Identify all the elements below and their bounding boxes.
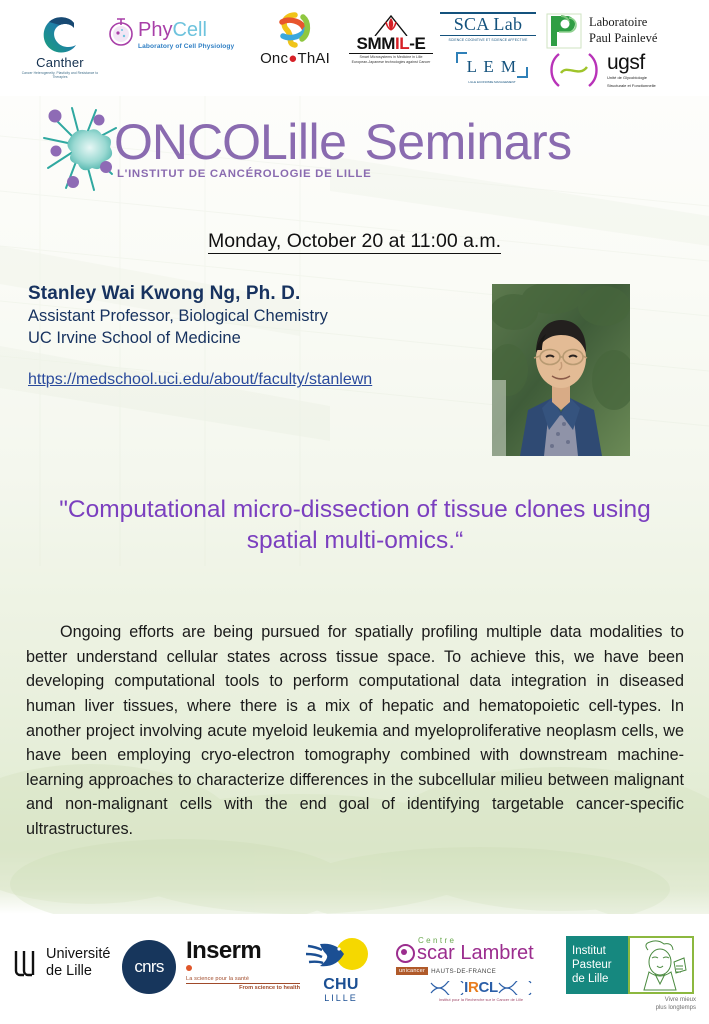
ugsf-subtitle-2: Structurale et Fonctionnelle (607, 83, 656, 89)
inserm-divider (186, 983, 300, 984)
inserm-name: Inserm (186, 940, 300, 963)
unicancer-region: HAUTS-DE-FRANCE (431, 968, 496, 975)
logo-phycell: PhyCell Laboratory of Cell Physiology (106, 16, 246, 50)
ugsf-symbol-icon (545, 52, 603, 88)
logo-smmile: SMMIL-E Smart Microsystems in Medicine i… (345, 14, 437, 65)
speaker-photo (492, 284, 630, 456)
phycell-flask-icon (106, 16, 140, 50)
speaker-institution: UC Irvine School of Medicine (28, 328, 478, 350)
universite-lille-name: Université de Lille (46, 946, 110, 980)
logo-universite-de-lille: Université de Lille (14, 946, 110, 980)
speaker-role: Assistant Professor, Biological Chemistr… (28, 306, 478, 328)
oncolille-cell-star-icon (36, 104, 118, 192)
ugsf-subtitle-1: Unité de Glycobiologie (607, 75, 656, 81)
canther-subtitle: Cancer Heterogeneity, Plasticity and Res… (18, 71, 102, 80)
sca-bottom-rule (440, 35, 536, 36)
universite-lille-mark-icon (14, 949, 40, 977)
phycell-tagline: Laboratory of Cell Physiology (138, 43, 234, 50)
phycell-name: PhyCell (138, 20, 234, 40)
logo-lem: L E M LILLE ECONOMIE MANAGEMENT (452, 52, 532, 85)
pasteur-name: Institut Pasteur de Lille (566, 936, 628, 994)
speaker-name: Stanley Wai Kwong Ng, Ph. D. (28, 282, 478, 306)
smmile-peak-icon (345, 14, 437, 36)
chu-lille-name: CHU (306, 977, 376, 993)
oscar-lambret-o-icon (396, 944, 415, 963)
logo-cnrs: cnrs (122, 940, 176, 994)
ircl-name: IRCL (464, 979, 498, 996)
ircl-dna-icon-right (498, 981, 532, 995)
canther-c-icon (36, 14, 84, 54)
sca-lab-subtitle: SCIENCE COGNITIVE ET SCIENCE AFFECTIVE (440, 38, 536, 42)
seminar-title: "Computational micro-dissection of tissu… (30, 494, 680, 557)
inserm-subtitle-fr: La science pour la santé (186, 976, 300, 982)
sca-lab-name: SCA Lab (440, 14, 536, 35)
chu-lille-bird-icon (306, 936, 376, 976)
lem-corner-top-left (456, 52, 467, 63)
oscar-lambret-name: scar Lambret (396, 943, 566, 963)
cnrs-disc: cnrs (122, 940, 176, 994)
lem-corner-bottom-right (517, 67, 528, 78)
seminar-date: Monday, October 20 at 11:00 a.m. (0, 230, 709, 253)
inserm-dot-icon (186, 965, 192, 971)
speaker-profile-link[interactable]: https://medschool.uci.edu/about/faculty/… (28, 371, 372, 389)
logo-chu-lille: CHU LILLE (306, 936, 376, 1003)
canther-name: Canther (18, 55, 102, 70)
logo-canther: Canther Cancer Heterogeneity, Plasticity… (18, 14, 102, 80)
logo-paul-painleve: Laboratoire Paul Painlevé (545, 12, 705, 50)
oncolille-wordmark: ONCOLilleSeminars (114, 117, 572, 167)
ircl-subtitle: Institut pour la Recherche sur le Cancer… (396, 997, 566, 1002)
smmile-name: SMMIL-E (345, 35, 437, 52)
logo-ugsf: ugsf Unité de Glycobiologie Structurale … (545, 52, 707, 88)
oncothai-knot-icon (273, 12, 317, 48)
smmile-divider (349, 53, 433, 54)
smmile-subtitle-2: European-Japanese technologies against C… (345, 60, 437, 65)
cnrs-name: cnrs (134, 957, 163, 977)
painleve-monogram-icon (545, 12, 583, 50)
logo-inserm: Inserm La science pour la santé From sci… (186, 940, 300, 991)
ircl-dna-icon (430, 981, 464, 995)
pasteur-subtitle: Vivre mieux plus longtemps (566, 997, 700, 1013)
unicancer-badge: unicancer (396, 967, 428, 975)
oncolille-seminars-header: ONCOLilleSeminars L'INSTITUT DE CANCÉROL… (36, 104, 676, 200)
logo-oscar-lambret: Centre scar Lambret unicancer HAUTS-DE-F… (396, 936, 566, 1002)
seminar-date-text: Monday, October 20 at 11:00 a.m. (208, 230, 501, 254)
logo-oncothai: Onc●ThAI (247, 12, 343, 67)
pasteur-portrait-icon (628, 936, 694, 994)
partner-logos-footer: Université de Lille cnrs Inserm La scien… (0, 914, 709, 1024)
chu-lille-subtitle: LILLE (306, 993, 376, 1003)
logo-institut-pasteur-lille: Institut Pasteur de Lille (566, 936, 700, 1013)
inserm-subtitle-en: From science to health (186, 985, 300, 991)
logo-sca-lab: SCA Lab SCIENCE COGNITIVE ET SCIENCE AFF… (440, 12, 536, 42)
speaker-info: Stanley Wai Kwong Ng, Ph. D. Assistant P… (28, 282, 478, 389)
seminar-abstract: Ongoing efforts are being pursued for sp… (26, 620, 684, 842)
oncothai-name: Onc●ThAI (247, 50, 343, 67)
ugsf-name: ugsf (607, 52, 656, 73)
partner-logos-header: Canther Cancer Heterogeneity, Plasticity… (0, 0, 709, 96)
logo-ircl: IRCL (396, 979, 566, 996)
poster-main: ONCOLilleSeminars L'INSTITUT DE CANCÉROL… (0, 96, 709, 914)
oscar-lambret-unicancer: unicancer HAUTS-DE-FRANCE (396, 967, 566, 975)
painleve-name: Laboratoire Paul Painlevé (589, 15, 657, 46)
